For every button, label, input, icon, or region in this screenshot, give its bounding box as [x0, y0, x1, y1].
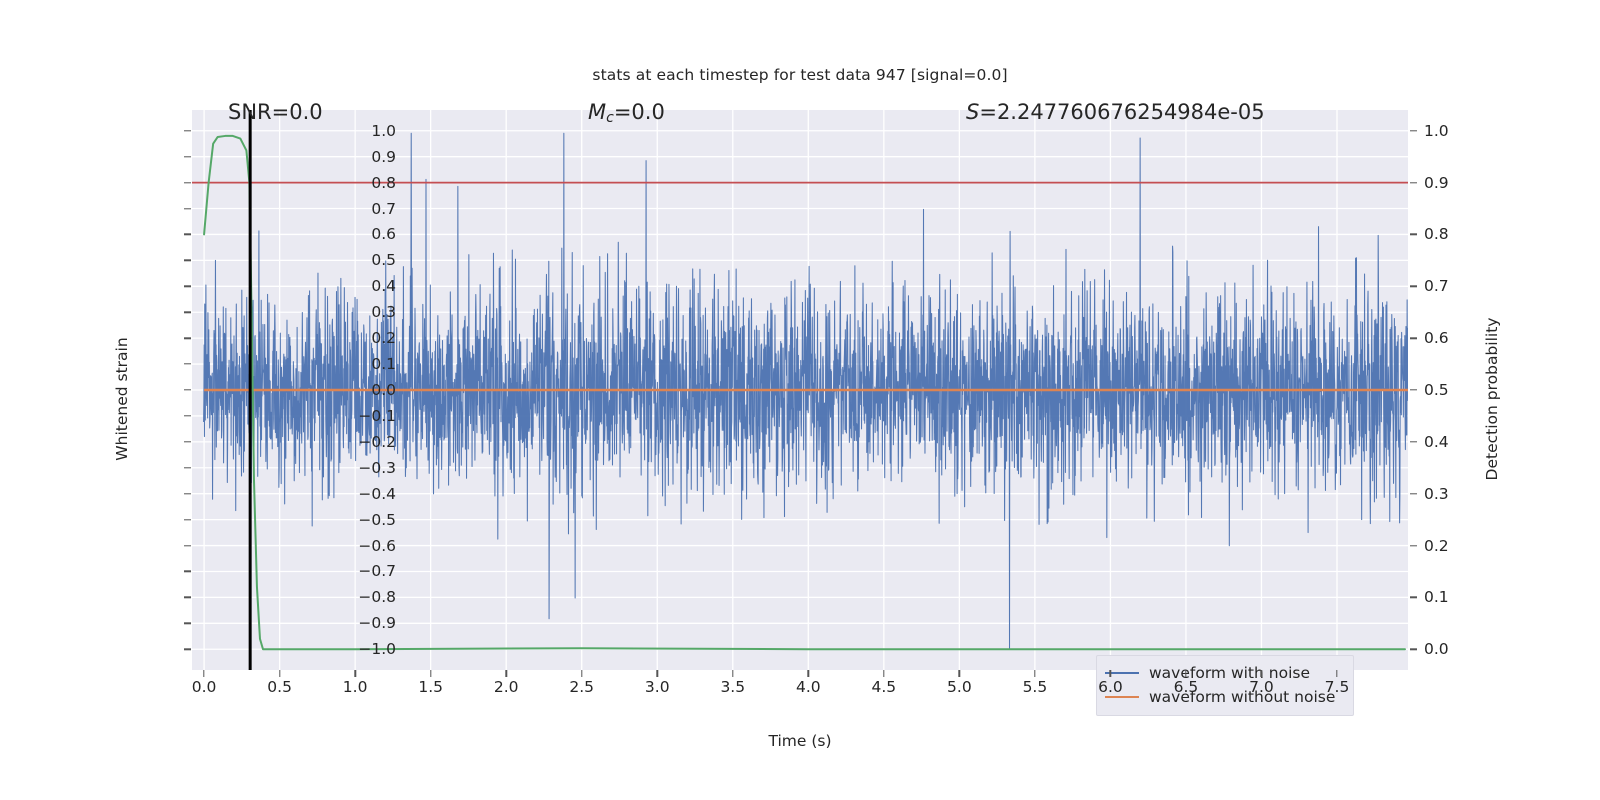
annotation-snr: SNR=0.0 — [228, 100, 323, 124]
x-tick-mark — [959, 670, 960, 677]
y-tick-mark — [184, 312, 191, 313]
y2-tick-label: 0.4 — [1424, 433, 1449, 451]
legend-item[interactable]: waveform without noise — [1105, 685, 1345, 709]
x-tick-mark — [883, 670, 884, 677]
y-tick-mark — [184, 363, 191, 364]
x-tick-label: 6.5 — [1174, 678, 1199, 696]
y2-tick-label: 0.6 — [1424, 329, 1449, 347]
x-tick-label: 5.0 — [947, 678, 972, 696]
y2-tick-mark — [1410, 597, 1417, 598]
x-tick-label: 2.0 — [494, 678, 519, 696]
y2-tick-mark — [1410, 649, 1417, 650]
x-tick-mark — [1034, 670, 1035, 677]
x-tick-label: 7.5 — [1325, 678, 1350, 696]
y-tick-mark — [184, 156, 191, 157]
y-tick-mark — [184, 389, 191, 390]
y2-tick-mark — [1410, 545, 1417, 546]
y2-tick-label: 0.2 — [1424, 537, 1449, 555]
annotation-chirp-mass: Mc=0.0 — [588, 100, 665, 126]
y-tick-mark — [184, 208, 191, 209]
y2-tick-mark — [1410, 286, 1417, 287]
y-tick-mark — [184, 545, 191, 546]
y2-axis-label: Detection probability — [1483, 269, 1501, 529]
y2-tick-label: 0.7 — [1424, 277, 1449, 295]
legend-line-swatch — [1105, 696, 1139, 698]
y-tick-mark — [184, 519, 191, 520]
x-tick-mark — [808, 670, 809, 677]
y-tick-label: −0.6 — [358, 537, 396, 555]
mc-symbol: M — [588, 100, 606, 124]
y-tick-mark — [184, 649, 191, 650]
y-tick-mark — [184, 286, 191, 287]
x-tick-label: 1.0 — [343, 678, 368, 696]
x-tick-mark — [203, 670, 204, 677]
y-tick-mark — [184, 597, 191, 598]
mc-value: =0.0 — [614, 100, 665, 124]
annotation-statistic: S=2.247760676254984e-05 — [966, 100, 1265, 124]
y2-tick-mark — [1410, 337, 1417, 338]
y2-tick-label: 0.3 — [1424, 485, 1449, 503]
y2-tick-label: 0.5 — [1424, 381, 1449, 399]
x-tick-mark — [1261, 670, 1262, 677]
y-tick-mark — [184, 571, 191, 572]
y-tick-label: 0.8 — [371, 174, 396, 192]
y-tick-label: −0.1 — [358, 407, 396, 425]
x-tick-mark — [1185, 670, 1186, 677]
legend: waveform with noisewaveform without nois… — [1096, 655, 1354, 716]
y2-tick-mark — [1410, 234, 1417, 235]
x-tick-label: 0.0 — [192, 678, 217, 696]
x-tick-mark — [732, 670, 733, 677]
y2-tick-label: 1.0 — [1424, 122, 1449, 140]
y-tick-label: −0.9 — [358, 614, 396, 632]
y-tick-label: 0.6 — [371, 225, 396, 243]
x-tick-label: 7.0 — [1249, 678, 1274, 696]
x-tick-label: 3.5 — [720, 678, 745, 696]
y2-tick-mark — [1410, 441, 1417, 442]
y-tick-mark — [184, 415, 191, 416]
y2-tick-mark — [1410, 493, 1417, 494]
y2-tick-label: 0.9 — [1424, 174, 1449, 192]
x-tick-mark — [430, 670, 431, 677]
y2-tick-label: 0.1 — [1424, 588, 1449, 606]
y-axis-label: Whitened strain — [113, 269, 131, 529]
x-tick-label: 3.0 — [645, 678, 670, 696]
y-tick-mark — [184, 337, 191, 338]
y-tick-label: 0.5 — [371, 251, 396, 269]
y-tick-label: 0.4 — [371, 277, 396, 295]
y-tick-mark — [184, 623, 191, 624]
y2-tick-mark — [1410, 389, 1417, 390]
y-tick-mark — [184, 182, 191, 183]
x-tick-mark — [1110, 670, 1111, 677]
y-tick-label: −1.0 — [358, 640, 396, 658]
y2-tick-label: 0.0 — [1424, 640, 1449, 658]
x-tick-label: 4.0 — [796, 678, 821, 696]
x-tick-label: 5.5 — [1023, 678, 1048, 696]
y-tick-mark — [184, 130, 191, 131]
y-tick-mark — [184, 234, 191, 235]
y-tick-label: 0.3 — [371, 303, 396, 321]
x-tick-mark — [581, 670, 582, 677]
y-tick-mark — [184, 260, 191, 261]
y-tick-label: 0.0 — [371, 381, 396, 399]
x-tick-mark — [505, 670, 506, 677]
chart-title: stats at each timestep for test data 947… — [0, 66, 1600, 84]
x-axis-label: Time (s) — [0, 732, 1600, 750]
y-tick-label: 1.0 — [371, 122, 396, 140]
x-tick-mark — [657, 670, 658, 677]
y-tick-label: −0.8 — [358, 588, 396, 606]
y2-tick-label: 0.8 — [1424, 225, 1449, 243]
legend-item[interactable]: waveform with noise — [1105, 661, 1345, 685]
y-tick-label: 0.1 — [371, 355, 396, 373]
y-tick-label: −0.4 — [358, 485, 396, 503]
y-tick-mark — [184, 467, 191, 468]
y-tick-label: −0.5 — [358, 511, 396, 529]
x-tick-mark — [354, 670, 355, 677]
y-tick-mark — [184, 493, 191, 494]
y-tick-label: 0.9 — [371, 148, 396, 166]
x-tick-mark — [279, 670, 280, 677]
y-tick-label: 0.7 — [371, 200, 396, 218]
y-tick-mark — [184, 441, 191, 442]
x-tick-label: 0.5 — [267, 678, 292, 696]
s-value: =2.247760676254984e-05 — [979, 100, 1264, 124]
x-tick-mark — [1336, 670, 1337, 677]
x-tick-label: 4.5 — [872, 678, 897, 696]
s-symbol: S — [966, 100, 979, 124]
y-tick-label: −0.3 — [358, 459, 396, 477]
y-tick-label: −0.2 — [358, 433, 396, 451]
y2-tick-mark — [1410, 182, 1417, 183]
mc-subscript: c — [606, 110, 614, 126]
y-tick-label: −0.7 — [358, 562, 396, 580]
y-tick-label: 0.2 — [371, 329, 396, 347]
x-tick-label: 6.0 — [1098, 678, 1123, 696]
figure-canvas: stats at each timestep for test data 947… — [0, 0, 1600, 800]
x-tick-label: 2.5 — [569, 678, 594, 696]
y2-tick-mark — [1410, 130, 1417, 131]
x-tick-label: 1.5 — [418, 678, 443, 696]
